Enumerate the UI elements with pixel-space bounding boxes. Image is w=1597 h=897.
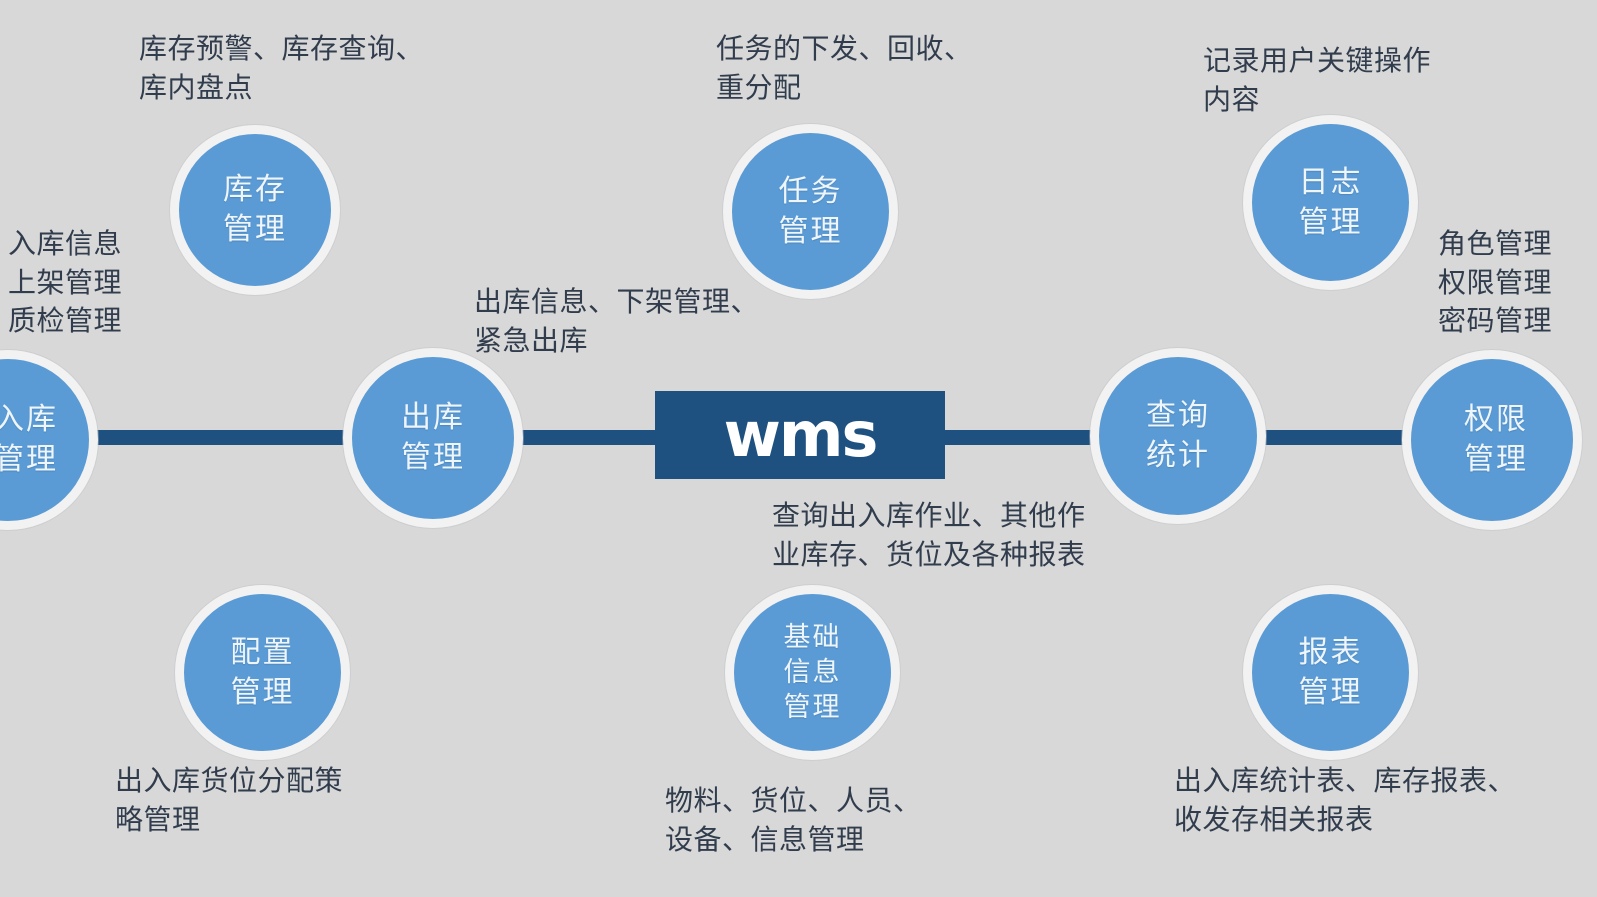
node-outbound-management-label: 出库 管理: [401, 398, 465, 478]
caption-inventory-management: 库存预警、库存查询、 库内盘点: [139, 30, 559, 107]
node-config-management[interactable]: 配置 管理: [175, 585, 350, 760]
node-report-management[interactable]: 报表 管理: [1243, 585, 1418, 760]
caption-config-management: 出入库货位分配策 略管理: [115, 762, 495, 839]
node-permission-management[interactable]: 权限 管理: [1402, 350, 1582, 530]
node-inbound-management-label: 入库 管理: [0, 400, 58, 480]
node-query-statistics[interactable]: 查询 统计: [1090, 348, 1266, 524]
node-config-management-label: 配置 管理: [231, 633, 295, 713]
node-log-management-label: 日志 管理: [1299, 163, 1363, 243]
caption-task-management: 任务的下发、回收、 重分配: [716, 30, 1096, 107]
caption-log-management: 记录用户关键操作 内容: [1203, 42, 1583, 119]
wms-label: wms: [724, 404, 877, 466]
node-task-management[interactable]: 任务 管理: [723, 124, 898, 299]
caption-basic-info-management: 物料、货位、人员、 设备、信息管理: [665, 782, 1045, 859]
wms-architecture-diagram: wms 库存 管理 任务 管理 日志 管理 入库 管理 出库 管理 查询 统计 …: [0, 0, 1597, 897]
node-permission-management-label: 权限 管理: [1464, 400, 1528, 480]
node-basic-info-management-label: 基础 信息 管理: [784, 620, 842, 725]
node-query-statistics-label: 查询 统计: [1146, 396, 1210, 476]
node-report-management-label: 报表 管理: [1299, 633, 1363, 713]
node-basic-info-management[interactable]: 基础 信息 管理: [725, 585, 900, 760]
node-inbound-management[interactable]: 入库 管理: [0, 350, 98, 530]
caption-permission-management: 角色管理 权限管理 密码管理: [1438, 225, 1597, 341]
caption-report-management: 出入库统计表、库存报表、 收发存相关报表: [1174, 762, 1597, 839]
wms-center-block: wms: [655, 391, 945, 479]
node-log-management[interactable]: 日志 管理: [1243, 115, 1418, 290]
node-inventory-management-label: 库存 管理: [223, 170, 287, 250]
node-outbound-management[interactable]: 出库 管理: [343, 348, 523, 528]
node-inventory-management[interactable]: 库存 管理: [170, 125, 340, 295]
node-task-management-label: 任务 管理: [779, 172, 843, 252]
